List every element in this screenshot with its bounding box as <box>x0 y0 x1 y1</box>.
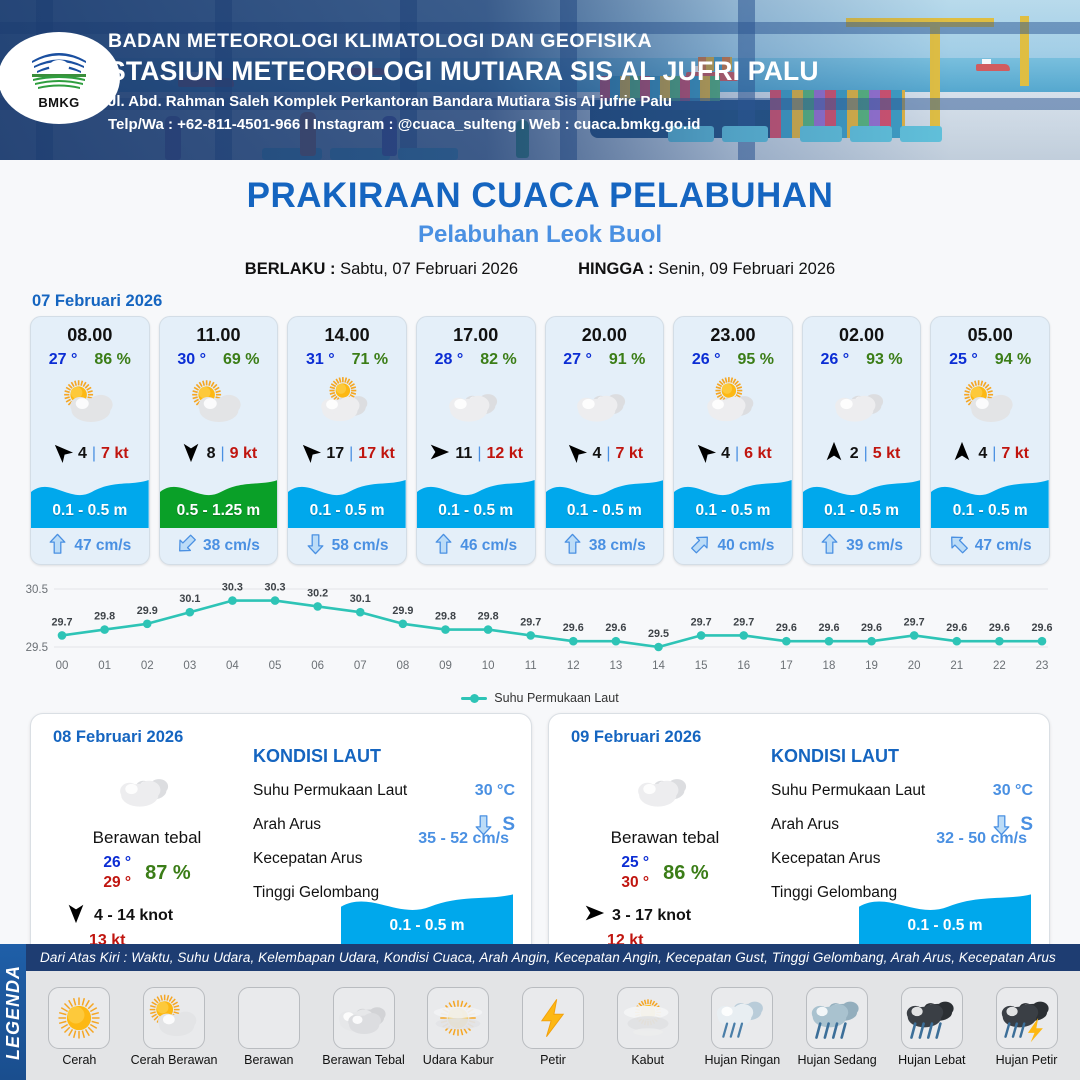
wind-range: 4 - 14 knot <box>94 907 173 925</box>
svg-text:29.6: 29.6 <box>776 622 797 634</box>
legenda-body: Dari Atas Kiri : Waktu, Suhu Udara, Kele… <box>26 944 1080 1080</box>
air-temperature: 27 ° <box>563 351 592 369</box>
humidity: 82 % <box>480 351 516 369</box>
legend-item-label: Udara Kabur <box>423 1053 494 1067</box>
wind-direction-arrow-icon <box>299 441 321 468</box>
wind-row: 4 | 6 kt <box>674 442 792 466</box>
wave-height-block: 0.1 - 0.5 m <box>288 470 406 528</box>
svg-text:29.8: 29.8 <box>94 611 115 623</box>
gust-speed: 7 kt <box>616 445 644 463</box>
legend-item: Cerah <box>33 987 125 1067</box>
legend-item: Hujan Lebat <box>886 987 978 1067</box>
weather-condition-icon <box>803 373 921 435</box>
bmkg-logo-text: BMKG <box>38 96 79 109</box>
wind-row: 8 | 9 kt <box>160 442 278 466</box>
current-speed: 40 cm/s <box>717 537 774 555</box>
weather-condition-icon <box>160 373 278 435</box>
svg-text:06: 06 <box>311 660 324 672</box>
haze-icon <box>427 987 489 1049</box>
svg-text:30.3: 30.3 <box>265 582 286 594</box>
air-temperature: 27 ° <box>49 351 78 369</box>
clouds-icon <box>333 987 395 1049</box>
forecast-temp-humidity: 31 ° 71 % <box>288 351 406 369</box>
wind-direction-arrow-icon <box>65 902 87 929</box>
wind-separator: | <box>992 445 996 463</box>
svg-text:30.2: 30.2 <box>307 587 328 599</box>
current-speed: 47 cm/s <box>975 537 1032 555</box>
current-row: 47 cm/s <box>31 528 149 564</box>
air-temperature: 31 ° <box>306 351 335 369</box>
weather-condition-label: Berawan tebal <box>93 828 202 848</box>
wind-row: 11 | 12 kt <box>417 442 535 466</box>
cloud-sun-icon <box>238 987 300 1049</box>
svg-text:18: 18 <box>823 660 836 672</box>
sea-row-label: Kecepatan Arus <box>253 850 515 868</box>
humidity: 86 % <box>94 351 130 369</box>
page-title: PRAKIRAAN CUACA PELABUHAN <box>0 176 1080 216</box>
current-row: 38 cm/s <box>546 528 664 564</box>
weather-condition-icon <box>417 373 535 435</box>
wave-height-block: 0.1 - 0.5 m <box>546 470 664 528</box>
wind-row: 3 - 17 knot <box>583 902 765 929</box>
weather-condition-icon <box>288 373 406 435</box>
gust-speed: 7 kt <box>1001 445 1029 463</box>
humidity: 69 % <box>223 351 259 369</box>
svg-text:11: 11 <box>525 660 537 672</box>
forecast-card: 02.00 26 ° 93 % 2 | 5 kt 0.1 - 0.5 m <box>802 316 922 565</box>
wave-height-block: 0.1 - 0.5 m <box>859 884 1031 944</box>
gust-speed: 6 kt <box>744 445 772 463</box>
temperature-range: 26 ° 29 ° <box>103 853 131 893</box>
forecast-card: 23.00 26 ° 95 % 4 | 6 kt 0.1 - 0.5 m <box>673 316 793 565</box>
svg-text:29.7: 29.7 <box>691 616 712 628</box>
wave-height: 0.1 - 0.5 m <box>931 502 1049 520</box>
svg-text:29.5: 29.5 <box>648 628 669 640</box>
gust-speed: 9 kt <box>230 445 258 463</box>
current-row: 39 cm/s <box>803 528 921 564</box>
page-header: BMKG BADAN METEOROLOGI KLIMATOLOGI DAN G… <box>0 0 1080 160</box>
title-block: PRAKIRAAN CUACA PELABUHAN Pelabuhan Leok… <box>0 176 1080 279</box>
wind-row: 4 | 7 kt <box>546 442 664 466</box>
wave-height-block: 0.1 - 0.5 m <box>803 470 921 528</box>
legend-item: Berawan <box>223 987 315 1067</box>
wave-height: 0.1 - 0.5 m <box>803 502 921 520</box>
berlaku-value: Sabtu, 07 Februari 2026 <box>340 260 518 278</box>
current-direction-arrow-icon <box>691 533 710 560</box>
forecast-time: 08.00 <box>31 317 149 346</box>
svg-text:07: 07 <box>354 660 367 672</box>
wind-speed: 8 <box>207 445 216 463</box>
heavy-rain-icon <box>901 987 963 1049</box>
wind-direction-arrow-icon <box>823 441 845 468</box>
wind-speed: 17 <box>326 445 344 463</box>
air-temperature: 25 ° <box>949 351 978 369</box>
legend-item-label: Cerah <box>62 1053 96 1067</box>
air-temperature: 28 ° <box>435 351 464 369</box>
temp-max: 30 ° <box>621 873 649 893</box>
forecast-card: 20.00 27 ° 91 % 4 | 7 kt 0.1 - 0.5 m <box>545 316 665 565</box>
legend-item-label: Petir <box>540 1053 566 1067</box>
sea-condition-block: KONDISI LAUT Suhu Permukaan Laut 30 °C A… <box>765 726 1033 950</box>
current-speed: 39 cm/s <box>846 537 903 555</box>
summary-date: 09 Februari 2026 <box>571 728 701 747</box>
legenda-side-tab: LEGENDA <box>0 944 26 1080</box>
wave-height: 0.1 - 0.5 m <box>31 502 149 520</box>
wave-height-block: 0.1 - 0.5 m <box>341 884 513 944</box>
humidity: 93 % <box>866 351 902 369</box>
svg-text:14: 14 <box>652 660 665 672</box>
svg-text:29.6: 29.6 <box>989 622 1010 634</box>
wave-height: 0.1 - 0.5 m <box>417 502 535 520</box>
humidity: 71 % <box>352 351 388 369</box>
thunderstorm-icon <box>996 987 1058 1049</box>
current-speed: 47 cm/s <box>74 537 131 555</box>
legenda-side-label: LEGENDA <box>3 964 24 1059</box>
svg-text:29.5: 29.5 <box>26 642 48 654</box>
current-direction-arrow-icon <box>949 533 968 560</box>
wind-row: 4 - 14 knot <box>65 902 247 929</box>
wind-row: 4 | 7 kt <box>31 442 149 466</box>
sea-row-sst: Suhu Permukaan Laut 30 °C <box>253 774 515 808</box>
svg-text:29.8: 29.8 <box>435 611 456 623</box>
svg-text:29.6: 29.6 <box>605 622 626 634</box>
weather-condition-icon <box>634 762 696 816</box>
forecast-card: 14.00 31 ° 71 % 17 | 17 kt 0.1 - 0.5 m <box>287 316 407 565</box>
forecast-temp-humidity: 30 ° 69 % <box>160 351 278 369</box>
gust-speed: 5 kt <box>873 445 901 463</box>
sea-row-sst: Suhu Permukaan Laut 30 °C <box>771 774 1033 808</box>
hingga-label: HINGGA : <box>578 260 653 278</box>
wind-direction-arrow-icon <box>583 902 605 929</box>
svg-text:29.7: 29.7 <box>520 616 541 628</box>
forecast-time: 02.00 <box>803 317 921 346</box>
wind-speed: 11 <box>455 445 472 463</box>
forecast-temp-humidity: 25 ° 94 % <box>931 351 1049 369</box>
svg-text:29.9: 29.9 <box>137 605 158 617</box>
moderate-rain-icon <box>806 987 868 1049</box>
current-row: 38 cm/s <box>160 528 278 564</box>
forecast-time: 20.00 <box>546 317 664 346</box>
current-speed: 38 cm/s <box>203 537 260 555</box>
sea-condition-header: KONDISI LAUT <box>253 746 515 767</box>
agency-name: BADAN METEOROLOGI KLIMATOLOGI DAN GEOFIS… <box>108 28 819 54</box>
wind-direction-arrow-icon <box>51 441 73 468</box>
svg-text:03: 03 <box>183 660 196 672</box>
temperature-range: 25 ° 30 ° <box>621 853 649 893</box>
svg-text:12: 12 <box>567 660 580 672</box>
legend-line-swatch <box>461 697 487 700</box>
gust-speed: 12 kt <box>486 445 522 463</box>
svg-text:29.8: 29.8 <box>478 611 499 623</box>
weather-condition-icon <box>546 373 664 435</box>
current-speed: 35 - 52 cm/s <box>418 830 509 848</box>
gust-speed: 7 kt <box>101 445 129 463</box>
forecast-time: 23.00 <box>674 317 792 346</box>
legenda-items: Cerah Cerah Berawan Berawan Berawan Teba… <box>26 971 1080 1080</box>
current-row: 47 cm/s <box>931 528 1049 564</box>
forecast-temp-humidity: 28 ° 82 % <box>417 351 535 369</box>
bmkg-logo-mark <box>28 47 90 95</box>
summary-left: Berawan tebal 26 ° 29 ° 87 % 4 - 14 knot… <box>47 726 247 950</box>
forecast-temp-humidity: 27 ° 91 % <box>546 351 664 369</box>
summary-temperature-row: 25 ° 30 ° 86 % <box>621 853 708 893</box>
air-temperature: 30 ° <box>177 351 206 369</box>
legend-item-label: Hujan Ringan <box>705 1053 781 1067</box>
wave-height-block: 0.1 - 0.5 m <box>931 470 1049 528</box>
wave-height-block: 0.1 - 0.5 m <box>31 470 149 528</box>
current-direction-arrow-icon <box>820 533 839 560</box>
forecast-temp-humidity: 27 ° 86 % <box>31 351 149 369</box>
forecast-time: 17.00 <box>417 317 535 346</box>
current-row: 58 cm/s <box>288 528 406 564</box>
svg-text:29.6: 29.6 <box>861 622 882 634</box>
svg-text:17: 17 <box>780 660 793 672</box>
station-name: STASIUN METEOROLOGI MUTIARA SIS AL JUFRI… <box>108 55 819 88</box>
sea-surface-temperature: 30 °C <box>993 782 1033 800</box>
current-direction-arrow-icon <box>563 533 582 560</box>
legend-item-label: Hujan Petir <box>996 1053 1058 1067</box>
current-direction-arrow-icon <box>48 533 67 560</box>
wave-height: 0.5 - 1.25 m <box>160 502 278 520</box>
wind-separator: | <box>221 445 225 463</box>
weather-condition-icon <box>31 373 149 435</box>
legend-item-label: Hujan Sedang <box>797 1053 876 1067</box>
forecast-card: 17.00 28 ° 82 % 11 | 12 kt 0.1 - 0.5 m <box>416 316 536 565</box>
wind-speed: 4 <box>721 445 730 463</box>
temp-min: 25 ° <box>621 853 649 873</box>
temp-max: 29 ° <box>103 873 131 893</box>
summary-left: Berawan tebal 25 ° 30 ° 86 % 3 - 17 knot… <box>565 726 765 950</box>
fog-icon <box>617 987 679 1049</box>
wind-separator: | <box>349 445 353 463</box>
humidity: 87 % <box>145 862 191 885</box>
air-temperature: 26 ° <box>821 351 850 369</box>
forecast-card: 05.00 25 ° 94 % 4 | 7 kt 0.1 - 0.5 m 47 … <box>930 316 1050 565</box>
svg-text:08: 08 <box>396 660 409 672</box>
forecast-time: 05.00 <box>931 317 1049 346</box>
humidity: 95 % <box>738 351 774 369</box>
humidity: 91 % <box>609 351 645 369</box>
wind-speed: 4 <box>592 445 601 463</box>
summary-date: 08 Februari 2026 <box>53 728 183 747</box>
hingga-group: HINGGA : Senin, 09 Februari 2026 <box>578 260 835 279</box>
wind-row: 2 | 5 kt <box>803 442 921 466</box>
wind-direction-arrow-icon <box>694 441 716 468</box>
svg-text:10: 10 <box>482 660 495 672</box>
header-text-block: BADAN METEOROLOGI KLIMATOLOGI DAN GEOFIS… <box>108 28 819 136</box>
sea-condition-header: KONDISI LAUT <box>771 746 1033 767</box>
svg-text:15: 15 <box>695 660 708 672</box>
light-rain-icon <box>711 987 773 1049</box>
sea-row-label: Suhu Permukaan Laut <box>253 782 475 800</box>
current-direction-arrow-icon <box>434 533 453 560</box>
svg-text:00: 00 <box>56 660 69 672</box>
current-speed: 46 cm/s <box>460 537 517 555</box>
wave-height-block: 0.1 - 0.5 m <box>417 470 535 528</box>
wind-separator: | <box>92 445 96 463</box>
sea-condition-block: KONDISI LAUT Suhu Permukaan Laut 30 °C A… <box>247 726 515 950</box>
wind-direction-arrow-icon <box>951 441 973 468</box>
legend-item: Berawan Tebal <box>318 987 410 1067</box>
legend-item: Hujan Ringan <box>696 987 788 1067</box>
validity-row: BERLAKU : Sabtu, 07 Februari 2026 HINGGA… <box>0 260 1080 279</box>
svg-text:05: 05 <box>269 660 282 672</box>
weather-condition-icon <box>116 762 178 816</box>
current-speed: 32 - 50 cm/s <box>936 830 1027 848</box>
current-row: 40 cm/s <box>674 528 792 564</box>
legend-item-label: Cerah Berawan <box>131 1053 218 1067</box>
daily-summary-panel: 08 Februari 2026 Berawan tebal 26 ° 29 °… <box>30 713 532 961</box>
legend-item: Kabut <box>602 987 694 1067</box>
legend-item-label: Kabut <box>631 1053 664 1067</box>
wind-range: 3 - 17 knot <box>612 907 691 925</box>
bmkg-logo: BMKG <box>0 32 120 124</box>
svg-text:21: 21 <box>950 660 963 672</box>
berlaku-group: BERLAKU : Sabtu, 07 Februari 2026 <box>245 260 518 279</box>
legend-item: Cerah Berawan <box>128 987 220 1067</box>
forecast-card: 11.00 30 ° 69 % 8 | 9 kt 0.5 - 1.25 m 38… <box>159 316 279 565</box>
hingga-value: Senin, 09 Februari 2026 <box>658 260 835 278</box>
legend-item: Udara Kabur <box>412 987 504 1067</box>
svg-text:29.7: 29.7 <box>51 616 72 628</box>
legend-item-label: Berawan <box>244 1053 293 1067</box>
hourly-forecast-row: 08.00 27 ° 86 % 4 | 7 kt 0.1 - 0.5 m 47 … <box>0 316 1080 565</box>
wave-height-block: 0.1 - 0.5 m <box>674 470 792 528</box>
summary-wind-block: 3 - 17 knot 12 kt <box>565 893 765 950</box>
wind-row: 17 | 17 kt <box>288 442 406 466</box>
legend-item-label: Hujan Lebat <box>898 1053 965 1067</box>
wind-row: 4 | 7 kt <box>931 442 1049 466</box>
air-temperature: 26 ° <box>692 351 721 369</box>
svg-text:23: 23 <box>1036 660 1049 672</box>
svg-text:02: 02 <box>141 660 154 672</box>
wind-speed: 4 <box>978 445 987 463</box>
gust-speed: 17 kt <box>358 445 394 463</box>
forecast-time: 11.00 <box>160 317 278 346</box>
wave-height-block: 0.5 - 1.25 m <box>160 470 278 528</box>
wave-height: 0.1 - 0.5 m <box>546 502 664 520</box>
station-contact: Telp/Wa : +62-811-4501-966 I Instagram :… <box>108 114 819 137</box>
wind-direction-arrow-icon <box>428 441 450 468</box>
legend-item: Petir <box>507 987 599 1067</box>
svg-text:13: 13 <box>610 660 623 672</box>
sea-row-label: Suhu Permukaan Laut <box>771 782 993 800</box>
legenda-caption: Dari Atas Kiri : Waktu, Suhu Udara, Kele… <box>26 944 1080 971</box>
current-direction-arrow-icon <box>177 533 196 560</box>
svg-text:22: 22 <box>993 660 1006 672</box>
legenda-section: LEGENDA Dari Atas Kiri : Waktu, Suhu Uda… <box>0 944 1080 1080</box>
weather-condition-icon <box>931 373 1049 435</box>
svg-text:29.6: 29.6 <box>1031 622 1052 634</box>
port-name: Pelabuhan Leok Buol <box>0 221 1080 249</box>
humidity: 86 % <box>663 862 709 885</box>
sst-chart: 30.529.529.70029.80129.90230.10330.30430… <box>0 575 1080 695</box>
svg-text:01: 01 <box>98 660 111 672</box>
svg-text:30.1: 30.1 <box>179 593 200 605</box>
summary-wind-block: 4 - 14 knot 13 kt <box>47 893 247 950</box>
legend-item: Hujan Petir <box>981 987 1073 1067</box>
current-speed: 58 cm/s <box>332 537 389 555</box>
day1-date-label: 07 Februari 2026 <box>32 292 1080 311</box>
daily-summary-panel: 09 Februari 2026 Berawan tebal 25 ° 30 °… <box>548 713 1050 961</box>
svg-text:30.3: 30.3 <box>222 582 243 594</box>
wind-separator: | <box>477 445 481 463</box>
wind-speed: 4 <box>78 445 87 463</box>
daily-summary-row: 08 Februari 2026 Berawan tebal 26 ° 29 °… <box>0 713 1080 961</box>
current-speed: 38 cm/s <box>589 537 646 555</box>
svg-text:09: 09 <box>439 660 452 672</box>
svg-text:04: 04 <box>226 660 239 672</box>
sea-surface-temperature: 30 °C <box>475 782 515 800</box>
bolt-icon <box>522 987 584 1049</box>
sea-row-label: Kecepatan Arus <box>771 850 1033 868</box>
svg-text:29.6: 29.6 <box>563 622 584 634</box>
legend-item-label: Berawan Tebal <box>322 1053 404 1067</box>
svg-text:29.6: 29.6 <box>946 622 967 634</box>
forecast-temp-humidity: 26 ° 93 % <box>803 351 921 369</box>
berlaku-label: BERLAKU : <box>245 260 336 278</box>
forecast-temp-humidity: 26 ° 95 % <box>674 351 792 369</box>
wave-height: 0.1 - 0.5 m <box>674 502 792 520</box>
temp-min: 26 ° <box>103 853 131 873</box>
humidity: 94 % <box>995 351 1031 369</box>
wind-direction-arrow-icon <box>180 441 202 468</box>
wind-speed: 2 <box>850 445 859 463</box>
svg-text:16: 16 <box>737 660 750 672</box>
svg-text:19: 19 <box>865 660 878 672</box>
svg-text:30.1: 30.1 <box>350 593 371 605</box>
current-row: 46 cm/s <box>417 528 535 564</box>
legend-item: Hujan Sedang <box>791 987 883 1067</box>
wave-height: 0.1 - 0.5 m <box>288 502 406 520</box>
weather-condition-label: Berawan tebal <box>611 828 720 848</box>
wave-height: 0.1 - 0.5 m <box>341 917 513 935</box>
sun-icon <box>48 987 110 1049</box>
weather-condition-icon <box>674 373 792 435</box>
station-address: Jl. Abd. Rahman Saleh Komplek Perkantora… <box>108 91 819 114</box>
forecast-time: 14.00 <box>288 317 406 346</box>
forecast-card: 08.00 27 ° 86 % 4 | 7 kt 0.1 - 0.5 m 47 … <box>30 316 150 565</box>
svg-text:29.9: 29.9 <box>392 605 413 617</box>
wave-height: 0.1 - 0.5 m <box>859 917 1031 935</box>
wind-separator: | <box>735 445 739 463</box>
sun-cloud-icon <box>143 987 205 1049</box>
svg-text:29.6: 29.6 <box>818 622 839 634</box>
wind-separator: | <box>864 445 868 463</box>
svg-text:30.5: 30.5 <box>26 584 48 596</box>
summary-temperature-row: 26 ° 29 ° 87 % <box>103 853 190 893</box>
current-direction-arrow-icon <box>306 533 325 560</box>
svg-text:29.7: 29.7 <box>904 616 925 628</box>
wind-separator: | <box>606 445 610 463</box>
svg-text:20: 20 <box>908 660 921 672</box>
wind-direction-arrow-icon <box>565 441 587 468</box>
svg-text:29.7: 29.7 <box>733 616 754 628</box>
